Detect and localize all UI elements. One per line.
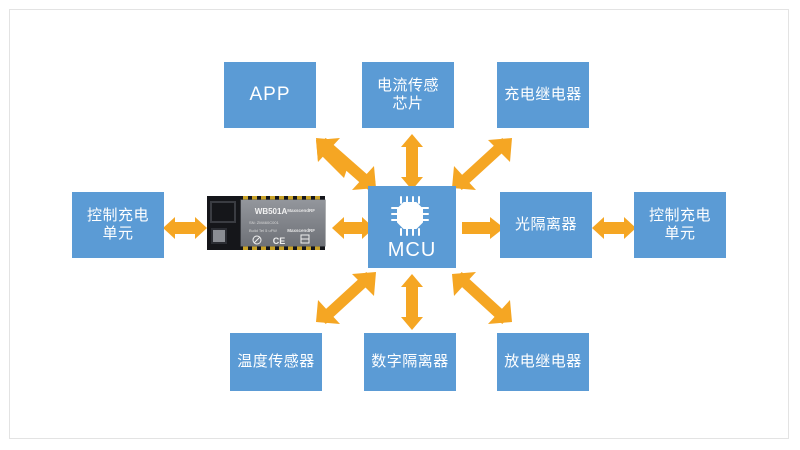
node-charge-control-right[interactable]: 控制充电单元 [634, 192, 726, 258]
svg-text:SN: ZM460C001: SN: ZM460C001 [249, 220, 280, 225]
diagram-canvas: APP 电流传感芯片 充电继电器 控制充电单元 光隔离器 控制充电单元 温度传感… [0, 0, 800, 450]
node-temp-sensor-label: 温度传感器 [231, 353, 321, 371]
node-current-sense-chip-label: 电流传感芯片 [366, 77, 450, 112]
node-opto-isolator[interactable]: 光隔离器 [500, 192, 592, 258]
node-current-sense-chip[interactable]: 电流传感芯片 [362, 62, 454, 128]
node-mcu-label: MCU [388, 240, 437, 260]
svg-text:CE: CE [273, 236, 286, 246]
node-mcu[interactable]: MCU [368, 186, 456, 268]
svg-text:WB501A: WB501A [255, 207, 288, 216]
connector-mcu-opto [462, 216, 504, 240]
node-charge-control-left-label: 控制充电单元 [76, 207, 160, 242]
connector-mcu-charge-relay [452, 138, 512, 190]
connector-opto-charge-control-right [592, 216, 636, 240]
node-app-label: APP [243, 84, 296, 106]
wb501a-module-photo: WB501A MaxscendRF SN: ZM460C001 Build Te… [199, 188, 331, 260]
connector-mcu-temp-sensor [316, 272, 376, 324]
node-discharge-relay-label: 放电继电器 [498, 353, 588, 371]
node-temp-sensor[interactable]: 温度传感器 [230, 333, 322, 391]
connector-mcu-digital-isolator [400, 274, 424, 330]
node-charge-control-right-label: 控制充电单元 [638, 207, 722, 242]
connector-mcu-discharge-relay [452, 272, 512, 324]
node-charge-relay-label: 充电继电器 [498, 86, 588, 104]
node-opto-isolator-label: 光隔离器 [509, 216, 583, 234]
connector-mcu-current-sense [400, 134, 424, 190]
node-digital-isolator[interactable]: 数字隔离器 [364, 333, 456, 391]
node-digital-isolator-label: 数字隔离器 [365, 353, 455, 371]
connector-mcu-app [316, 138, 376, 190]
node-charge-control-left[interactable]: 控制充电单元 [72, 192, 164, 258]
node-charge-relay[interactable]: 充电继电器 [497, 62, 589, 128]
svg-text:Build Tel 5 uFW: Build Tel 5 uFW [249, 228, 277, 233]
svg-text:MaxscendRF: MaxscendRF [287, 228, 315, 233]
node-app[interactable]: APP [224, 62, 316, 128]
svg-text:MaxscendRF: MaxscendRF [287, 208, 315, 213]
chip-icon [389, 194, 435, 238]
node-discharge-relay[interactable]: 放电继电器 [497, 333, 589, 391]
